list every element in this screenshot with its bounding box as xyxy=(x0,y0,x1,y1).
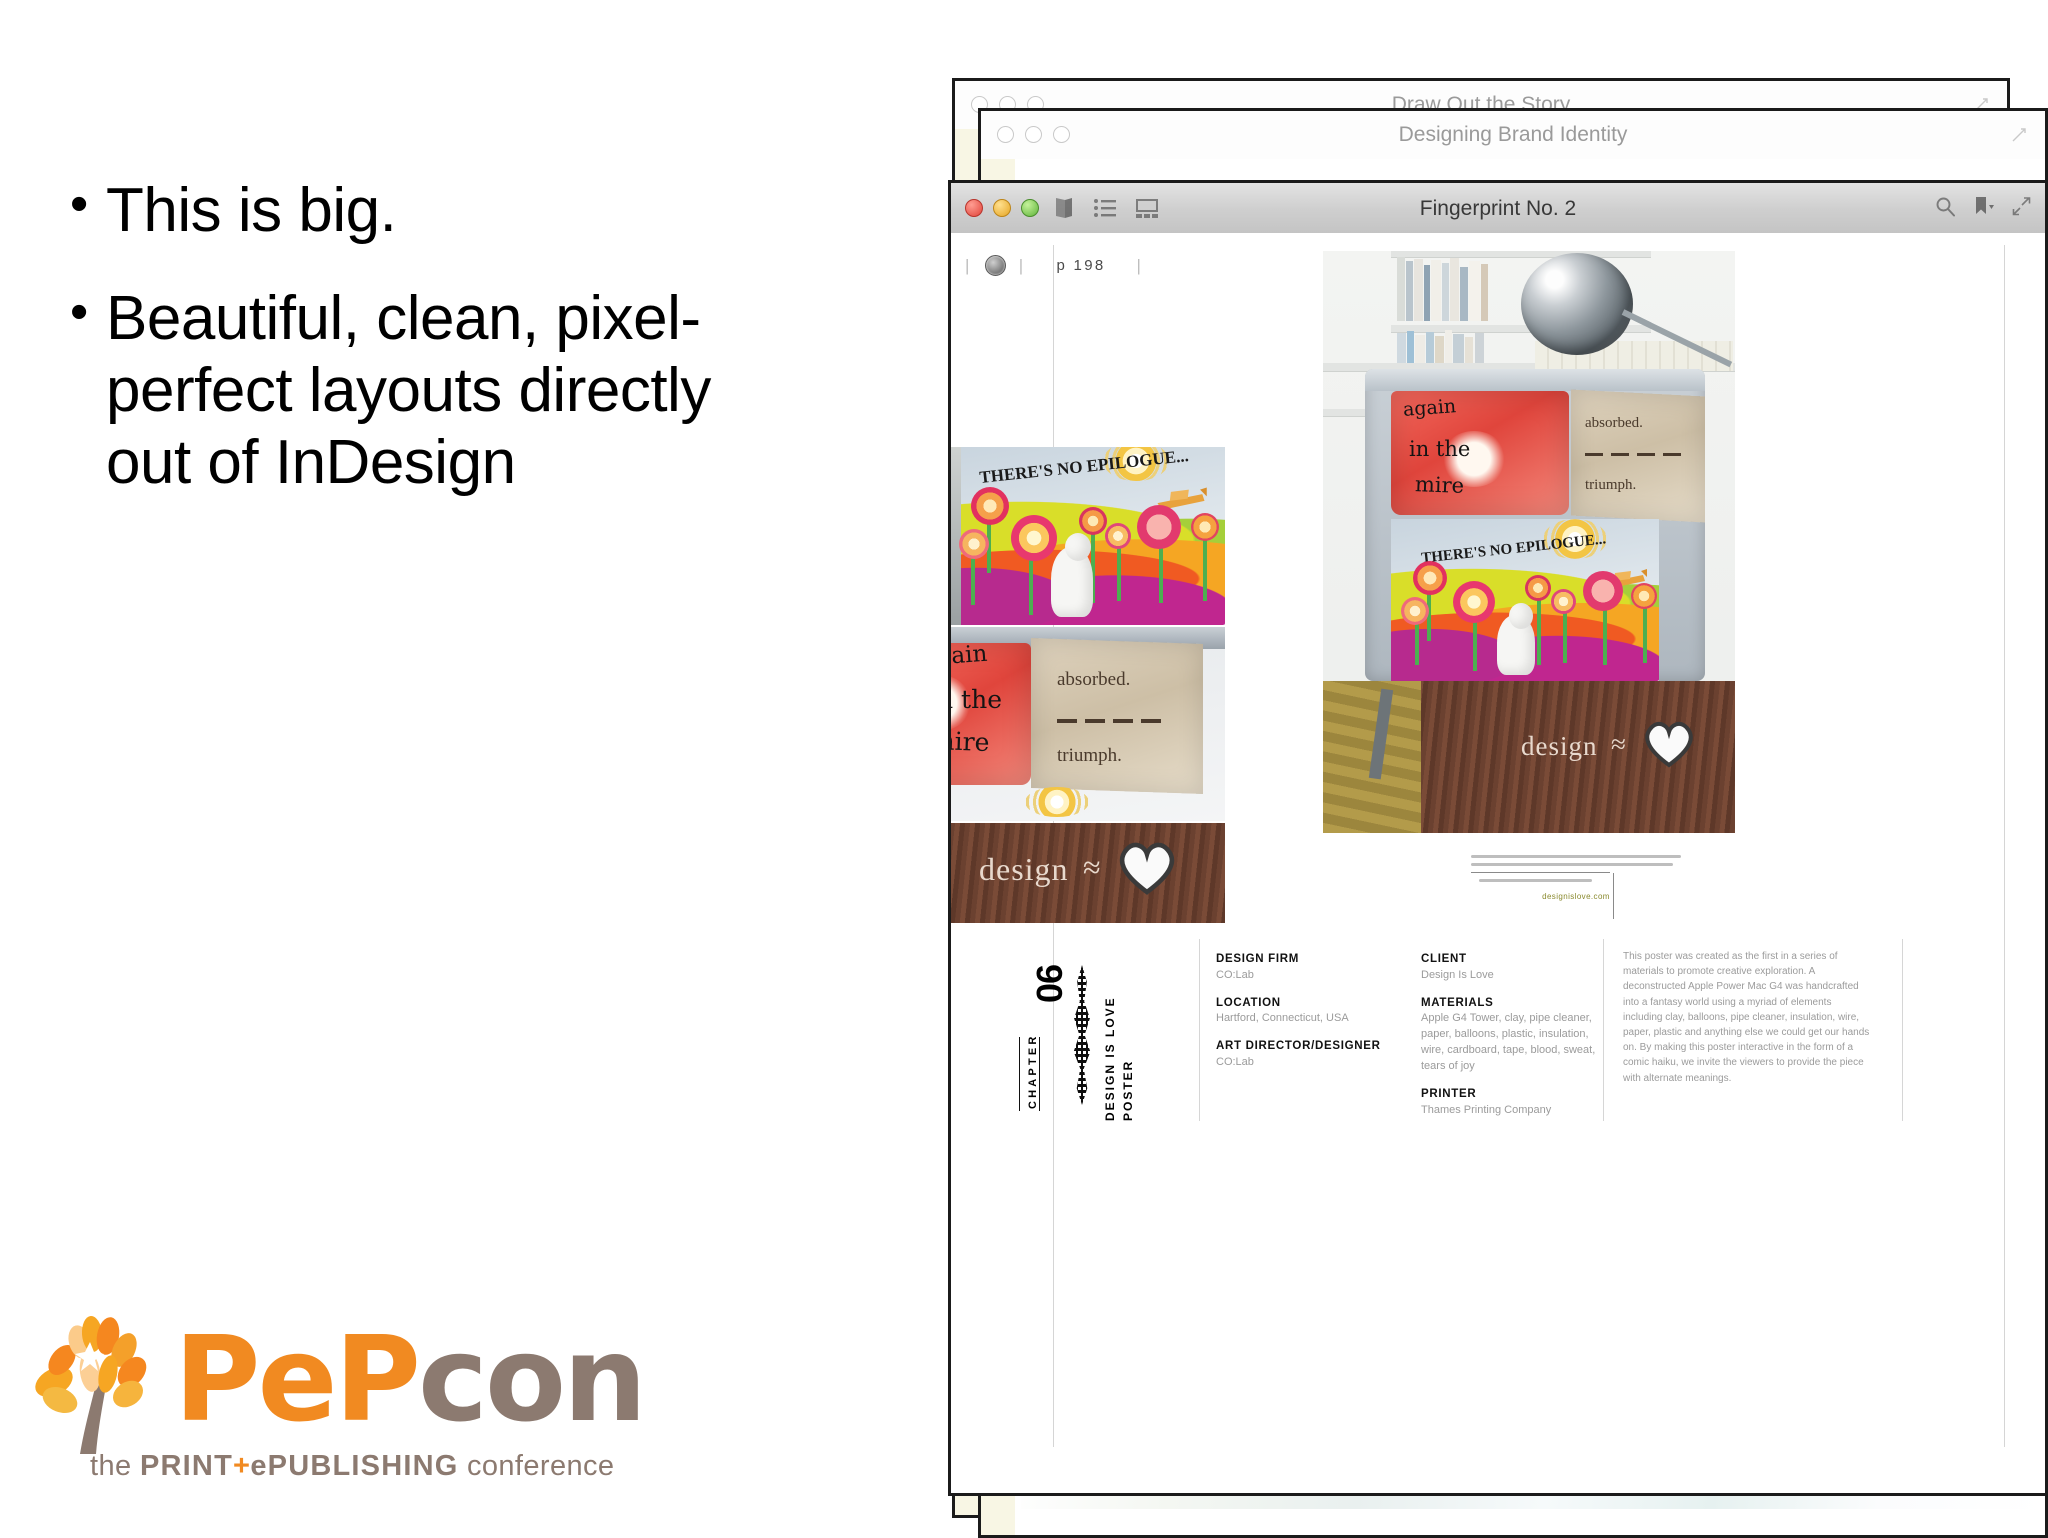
credits-strip: 06 CHAPTER DESIGN IS LOVE POSTER DESIGN … xyxy=(951,935,2045,1125)
window-title: Fingerprint No. 2 xyxy=(951,197,2045,221)
credit-value: Apple G4 Tower, clay, pipe cleaner, pape… xyxy=(1421,1011,1596,1075)
folio: | | p 198 | xyxy=(965,255,1143,276)
window-title: Designing Brand Identity xyxy=(981,123,2045,147)
poster-caption-scribble: designislove.com xyxy=(1471,855,1681,901)
caption-absorbed: absorbed. xyxy=(1057,669,1130,691)
heart-icon xyxy=(1641,719,1697,769)
titlebar-fingerprint[interactable]: Fingerprint No. 2 xyxy=(951,183,2045,234)
heart-icon xyxy=(1115,839,1179,897)
caption-design: design xyxy=(979,851,1069,888)
folio-page-label: p 198 xyxy=(1056,257,1105,274)
page-sheet: | | p 198 | xyxy=(951,233,2045,1493)
bookmark-icon[interactable] xyxy=(1973,196,1995,217)
folio-divider: | xyxy=(1019,256,1026,276)
credit-label: DESIGN FIRM xyxy=(1216,951,1386,968)
fullscreen-icon[interactable] xyxy=(2012,197,2031,216)
caption-design: design xyxy=(1521,731,1598,762)
chapter-ornament-icon xyxy=(1071,965,1093,1105)
credits-column-right: CLIENT Design Is Love MATERIALS Apple G4… xyxy=(1421,951,1596,1119)
window-stack: Draw Out the Story Designing Brand Ident… xyxy=(0,0,2048,1536)
project-title-line2: POSTER xyxy=(1121,1060,1135,1121)
folio-divider: | xyxy=(1136,256,1143,276)
photo-epilogue-mural: THERE'S NO EPILOGUE... xyxy=(951,447,1225,625)
project-title-line1: DESIGN IS LOVE xyxy=(1103,996,1117,1121)
caption-triumph: triumph. xyxy=(1057,745,1122,767)
chapter-number: 06 xyxy=(1029,965,1071,1003)
page-rule-right xyxy=(2004,245,2005,1447)
caption-again: again xyxy=(1402,395,1457,421)
main-poster-photo: again in the mire absorbed. triumph. THE… xyxy=(1323,251,1735,833)
caption-absorbed: absorbed. xyxy=(1585,415,1643,432)
caption-mire: mire xyxy=(1415,472,1465,498)
caption-triumph: triumph. xyxy=(1585,477,1636,494)
titlebar-brand-identity[interactable]: Designing Brand Identity xyxy=(981,111,2045,160)
caption-in-the: in the xyxy=(1409,437,1470,461)
desk-surface: design ≈ xyxy=(1323,681,1735,833)
credit-url: designislove.com xyxy=(1471,892,1681,901)
credit-label: LOCATION xyxy=(1216,995,1386,1012)
project-blurb: This poster was created as the first in … xyxy=(1623,949,1873,1086)
credit-label: MATERIALS xyxy=(1421,995,1596,1012)
chapter-label: CHAPTER xyxy=(1027,1033,1039,1109)
credit-value: CO:Lab xyxy=(1216,1055,1386,1071)
mural-scene: THERE'S NO EPILOGUE... xyxy=(1391,519,1659,681)
credit-value: CO:Lab xyxy=(1216,968,1386,984)
credit-label: PRINTER xyxy=(1421,1086,1596,1103)
lamp-icon xyxy=(1521,253,1633,355)
credit-label: ART DIRECTOR/DESIGNER xyxy=(1216,1038,1386,1055)
search-icon[interactable] xyxy=(1935,196,1956,217)
chapter-block: 06 CHAPTER DESIGN IS LOVE POSTER xyxy=(993,941,1143,1121)
caption-mire: mire xyxy=(951,726,990,757)
caption-again: again xyxy=(951,641,988,671)
photo-design-heart: design ≈ xyxy=(951,823,1225,923)
paper-bag-prop xyxy=(1031,638,1203,794)
folio-divider: | xyxy=(965,256,972,276)
window-fingerprint-no-2[interactable]: Fingerprint No. 2 xyxy=(948,180,2048,1496)
credit-value: Design Is Love xyxy=(1421,968,1596,984)
toolbar-right-icons[interactable] xyxy=(1935,196,2031,217)
photo-absorbed-triumph: again in the mire absorbed. triumph. xyxy=(951,627,1225,821)
caption-design-mark: ≈ xyxy=(1611,729,1627,760)
caption-in-the: in the xyxy=(951,685,1002,714)
resize-grip-icon[interactable] xyxy=(2009,125,2029,145)
credit-label: CLIENT xyxy=(1421,951,1596,968)
circle-mark-icon xyxy=(985,255,1006,276)
credits-column-left: DESIGN FIRM CO:Lab LOCATION Hartford, Co… xyxy=(1216,951,1386,1071)
caption-design-mark: ≈ xyxy=(1083,849,1102,886)
credit-value: Thames Printing Company xyxy=(1421,1103,1596,1119)
credit-value: Hartford, Connecticut, USA xyxy=(1216,1011,1386,1027)
paper-bag-prop xyxy=(1571,389,1705,522)
